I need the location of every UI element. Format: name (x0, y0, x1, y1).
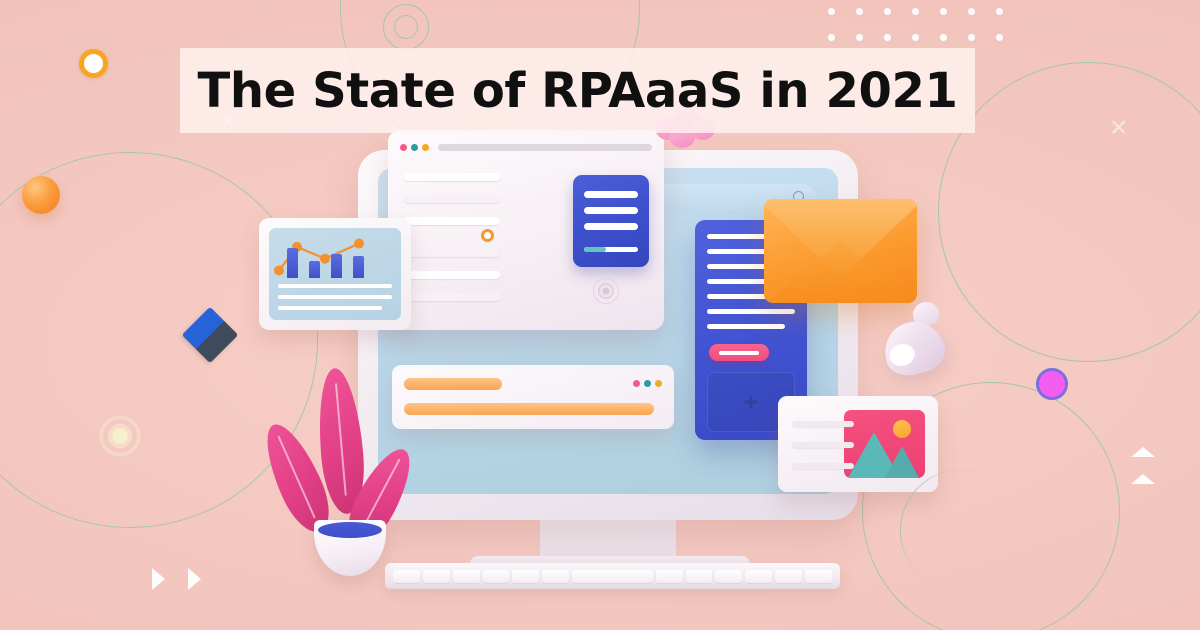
title-banner: The State of RPAaaS in 2021 (180, 48, 975, 133)
orange-bullet-dot (481, 229, 494, 242)
keyboard-key[interactable] (775, 570, 802, 583)
plant-soil (318, 522, 382, 538)
traffic-light-dot[interactable] (633, 380, 640, 387)
content-text-line (404, 293, 500, 301)
document-text-line (707, 324, 785, 329)
chart-card (259, 218, 411, 330)
traffic-light-dot[interactable] (644, 380, 651, 387)
keyboard-key[interactable] (512, 570, 539, 583)
potted-plant (272, 368, 432, 580)
keyboard-key[interactable] (656, 570, 683, 583)
content-text-line (404, 173, 500, 181)
keyboard-key[interactable] (745, 570, 772, 583)
chart-caption-line (278, 295, 392, 299)
traffic-light-dot[interactable] (655, 380, 662, 387)
content-text-line (404, 195, 500, 203)
chart-caption-line (278, 306, 382, 310)
keyboard-key[interactable] (686, 570, 713, 583)
card-text-bar (584, 223, 638, 230)
plant-pot (314, 520, 386, 576)
blue-content-card (573, 175, 649, 267)
lamp-shade (879, 316, 950, 381)
document-text-line (707, 309, 795, 314)
content-text-line (404, 249, 500, 257)
browser-window (388, 130, 664, 330)
chart-bar (287, 248, 298, 278)
address-bar[interactable] (438, 144, 652, 151)
mountain-shape (885, 446, 919, 478)
chart-caption-line (278, 284, 392, 288)
keyboard-key[interactable] (542, 570, 569, 583)
maximize-dot-icon[interactable] (422, 144, 429, 151)
pink-action-button[interactable] (709, 344, 769, 361)
card-text-line (792, 421, 854, 427)
traffic-light-dots (633, 380, 662, 387)
envelope-icon (764, 199, 917, 303)
orange-bars-window (392, 365, 674, 429)
card-text-bar (584, 191, 638, 198)
close-dot-icon[interactable] (400, 144, 407, 151)
page-title: The State of RPAaaS in 2021 (198, 63, 958, 119)
envelope-flap (764, 199, 917, 303)
chart-bar (353, 256, 364, 278)
minimize-dot-icon[interactable] (411, 144, 418, 151)
keyboard-key[interactable] (805, 570, 832, 583)
desk-lamp (880, 300, 952, 378)
keyboard[interactable] (385, 563, 840, 589)
content-text-line (404, 217, 500, 225)
chart-bar (309, 261, 320, 278)
keyboard-key[interactable] (453, 570, 480, 583)
card-text-line (792, 463, 854, 469)
browser-title-bar (400, 142, 652, 152)
orange-sphere (22, 176, 60, 214)
card-text-line (792, 442, 854, 448)
photo-thumbnail (844, 410, 925, 478)
keyboard-key[interactable] (715, 570, 742, 583)
chart-bar (331, 254, 342, 278)
chart-data-point (354, 239, 364, 249)
orange-bar (404, 403, 654, 415)
content-text-line (404, 271, 500, 279)
chart-panel (269, 228, 401, 320)
chart-data-point (274, 265, 284, 275)
card-text-bar (584, 207, 638, 214)
progress-bar (584, 247, 638, 252)
keyboard-key[interactable] (572, 570, 653, 583)
image-preview-card (778, 396, 938, 492)
chart-data-point (320, 254, 330, 264)
keyboard-key[interactable] (483, 570, 510, 583)
poster-canvas: × × × (0, 0, 1200, 630)
record-button[interactable] (593, 278, 619, 304)
